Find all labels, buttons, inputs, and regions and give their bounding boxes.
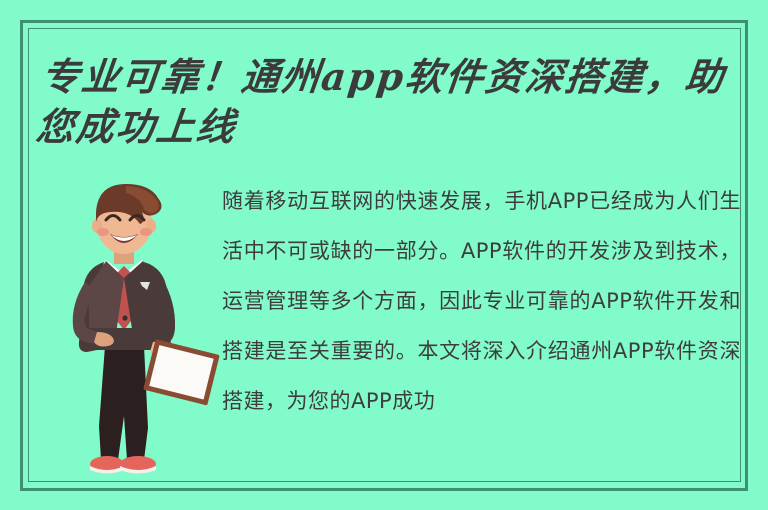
right-cheek — [140, 228, 152, 236]
poster-canvas: 专业可靠！通州app软件资深搭建，助您成功上线 — [0, 0, 768, 510]
left-cheek — [97, 228, 109, 236]
trousers — [99, 346, 148, 460]
businessman-illustration — [52, 178, 222, 478]
clipboard — [143, 339, 220, 405]
businessman-figure — [52, 178, 222, 478]
jacket-button — [122, 315, 127, 320]
body-paragraph: 随着移动互联网的快速发展，手机APP已经成为人们生活中不可或缺的一部分。APP软… — [222, 176, 741, 476]
page-title: 专业可靠！通州app软件资深搭建，助您成功上线 — [33, 52, 744, 152]
